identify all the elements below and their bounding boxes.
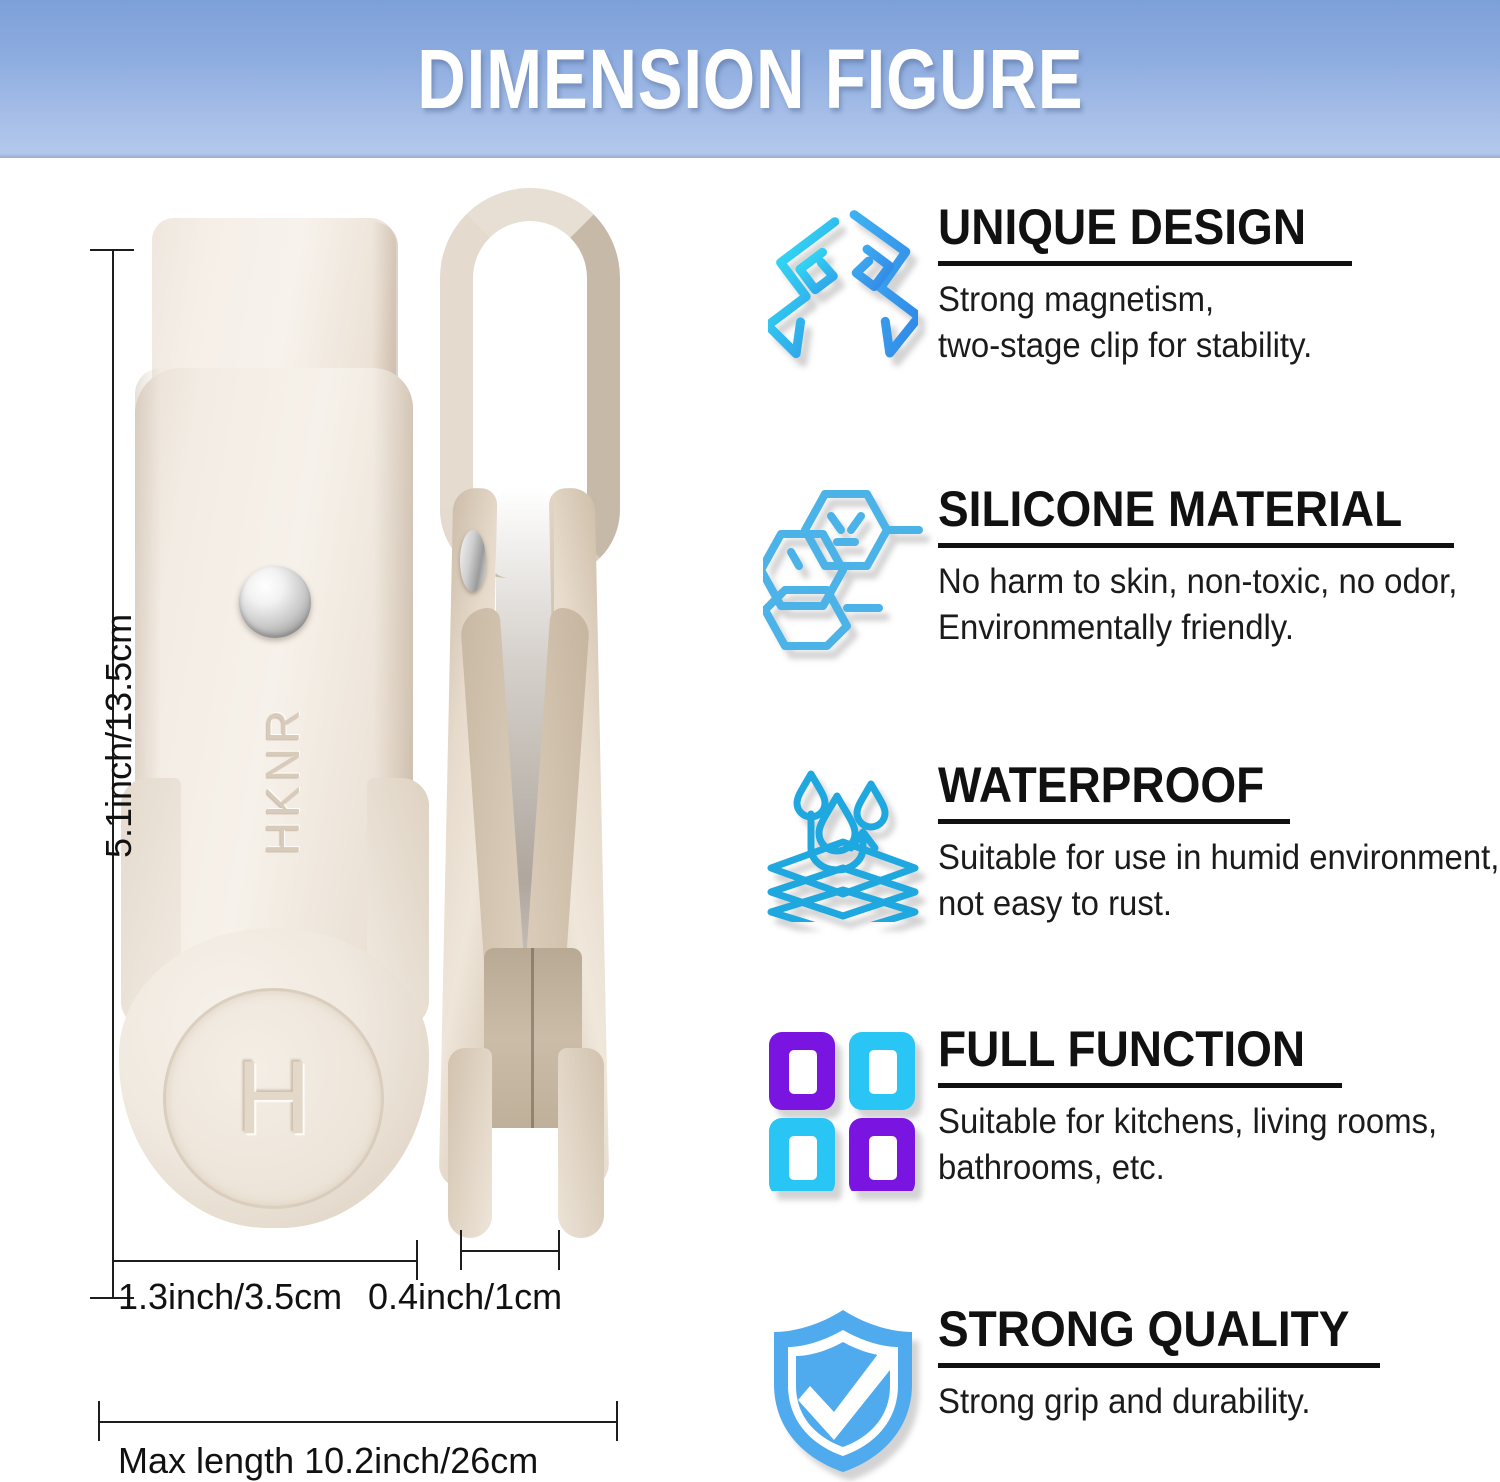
feature-desc-line: Strong grip and durability.	[938, 1379, 1466, 1425]
brand-emboss-text: HKNR	[256, 705, 310, 855]
max-length-dimension-tick-left	[98, 1401, 100, 1441]
width-dimension-label: 1.3inch/3.5cm	[118, 1276, 342, 1318]
thickness-dimension-label: 0.4inch/1cm	[368, 1276, 562, 1318]
feature-text-block: FULL FUNCTION Suitable for kitchens, liv…	[938, 1020, 1500, 1191]
feature-title-underline	[938, 819, 1290, 824]
feature-description: Strong grip and durability.	[938, 1379, 1466, 1425]
feature-title: STRONG QUALITY	[938, 1304, 1455, 1354]
metal-rivet-side	[460, 530, 486, 592]
feature-desc-line: No harm to skin, non-toxic, no odor,	[938, 559, 1466, 605]
max-length-dimension-label: Max length 10.2inch/26cm	[118, 1440, 538, 1482]
page-header-banner: DIMENSION FIGURE	[0, 0, 1500, 158]
feature-text-block: SILICONE MATERIAL No harm to skin, non-t…	[938, 480, 1500, 651]
logo-badge: H	[163, 988, 384, 1209]
feature-desc-line: Strong magnetism,	[938, 277, 1466, 323]
max-length-dimension-tick-right	[616, 1401, 618, 1441]
feature-list: UNIQUE DESIGN Strong magnetism, two-stag…	[748, 158, 1500, 1481]
crossed-magnet-icon	[748, 198, 938, 368]
four-squares-grid-icon	[748, 1020, 938, 1191]
feature-unique-design: UNIQUE DESIGN Strong magnetism, two-stag…	[748, 198, 1500, 368]
max-length-dimension-line	[98, 1421, 618, 1423]
brand-emboss: HKNR	[193, 690, 373, 870]
width-dimension-tick-right	[416, 1240, 418, 1280]
feature-text-block: STRONG QUALITY Strong grip and durabilit…	[938, 1300, 1500, 1476]
metal-rivet	[239, 566, 311, 638]
feature-desc-line: bathrooms, etc.	[938, 1145, 1466, 1191]
product-front-view: HKNR H	[135, 218, 425, 1228]
feature-waterproof: WATERPROOF Suitable for use in humid env…	[748, 756, 1500, 926]
height-dimension-tick-top	[90, 249, 134, 251]
thickness-dimension-line	[460, 1250, 560, 1252]
feature-title-underline	[938, 1363, 1380, 1368]
feature-title: UNIQUE DESIGN	[938, 202, 1455, 252]
product-side-view	[432, 188, 632, 1253]
shield-check-icon	[748, 1300, 938, 1476]
width-dimension-line	[112, 1260, 418, 1262]
feature-description: Strong magnetism, two-stage clip for sta…	[938, 277, 1466, 368]
clip-side-foot-right	[558, 1048, 604, 1238]
feature-full-function: FULL FUNCTION Suitable for kitchens, liv…	[748, 1020, 1500, 1191]
feature-description: Suitable for kitchens, living rooms, bat…	[938, 1099, 1466, 1190]
feature-title: WATERPROOF	[938, 760, 1487, 810]
feature-desc-line: Environmentally friendly.	[938, 605, 1466, 651]
feature-title: FULL FUNCTION	[938, 1024, 1455, 1074]
feature-title: SILICONE MATERIAL	[938, 484, 1455, 534]
waterproof-layers-icon	[748, 756, 938, 926]
feature-title-underline	[938, 261, 1352, 266]
feature-title-underline	[938, 1083, 1342, 1088]
feature-desc-line: Suitable for use in humid environment,	[938, 835, 1499, 881]
page-title: DIMENSION FIGURE	[417, 31, 1083, 128]
thickness-dimension-tick-right	[558, 1230, 560, 1270]
feature-desc-line: two-stage clip for stability.	[938, 323, 1466, 369]
feature-desc-line: not easy to rust.	[938, 881, 1499, 927]
feature-strong-quality: STRONG QUALITY Strong grip and durabilit…	[748, 1300, 1500, 1476]
height-dimension-label: 5.1inch/13.5cm	[98, 614, 140, 858]
feature-description: No harm to skin, non-toxic, no odor, Env…	[938, 559, 1466, 650]
feature-desc-line: Suitable for kitchens, living rooms,	[938, 1099, 1466, 1145]
product-diagram-panel: HKNR H 5.1inch/13.5cm 1.3inch/3.5cm 0.4i…	[0, 158, 740, 1481]
feature-title-underline	[938, 543, 1454, 548]
feature-silicone-material: SILICONE MATERIAL No harm to skin, non-t…	[748, 480, 1500, 651]
feature-text-block: UNIQUE DESIGN Strong magnetism, two-stag…	[938, 198, 1500, 368]
thickness-dimension-tick-left	[460, 1230, 462, 1270]
molecule-hexagon-icon	[748, 480, 938, 651]
feature-description: Suitable for use in humid environment, n…	[938, 835, 1499, 926]
logo-badge-letter: H	[236, 1039, 311, 1158]
feature-text-block: WATERPROOF Suitable for use in humid env…	[938, 756, 1500, 926]
width-dimension-tick-left	[112, 1240, 114, 1280]
clip-side-foot-left	[448, 1048, 492, 1238]
